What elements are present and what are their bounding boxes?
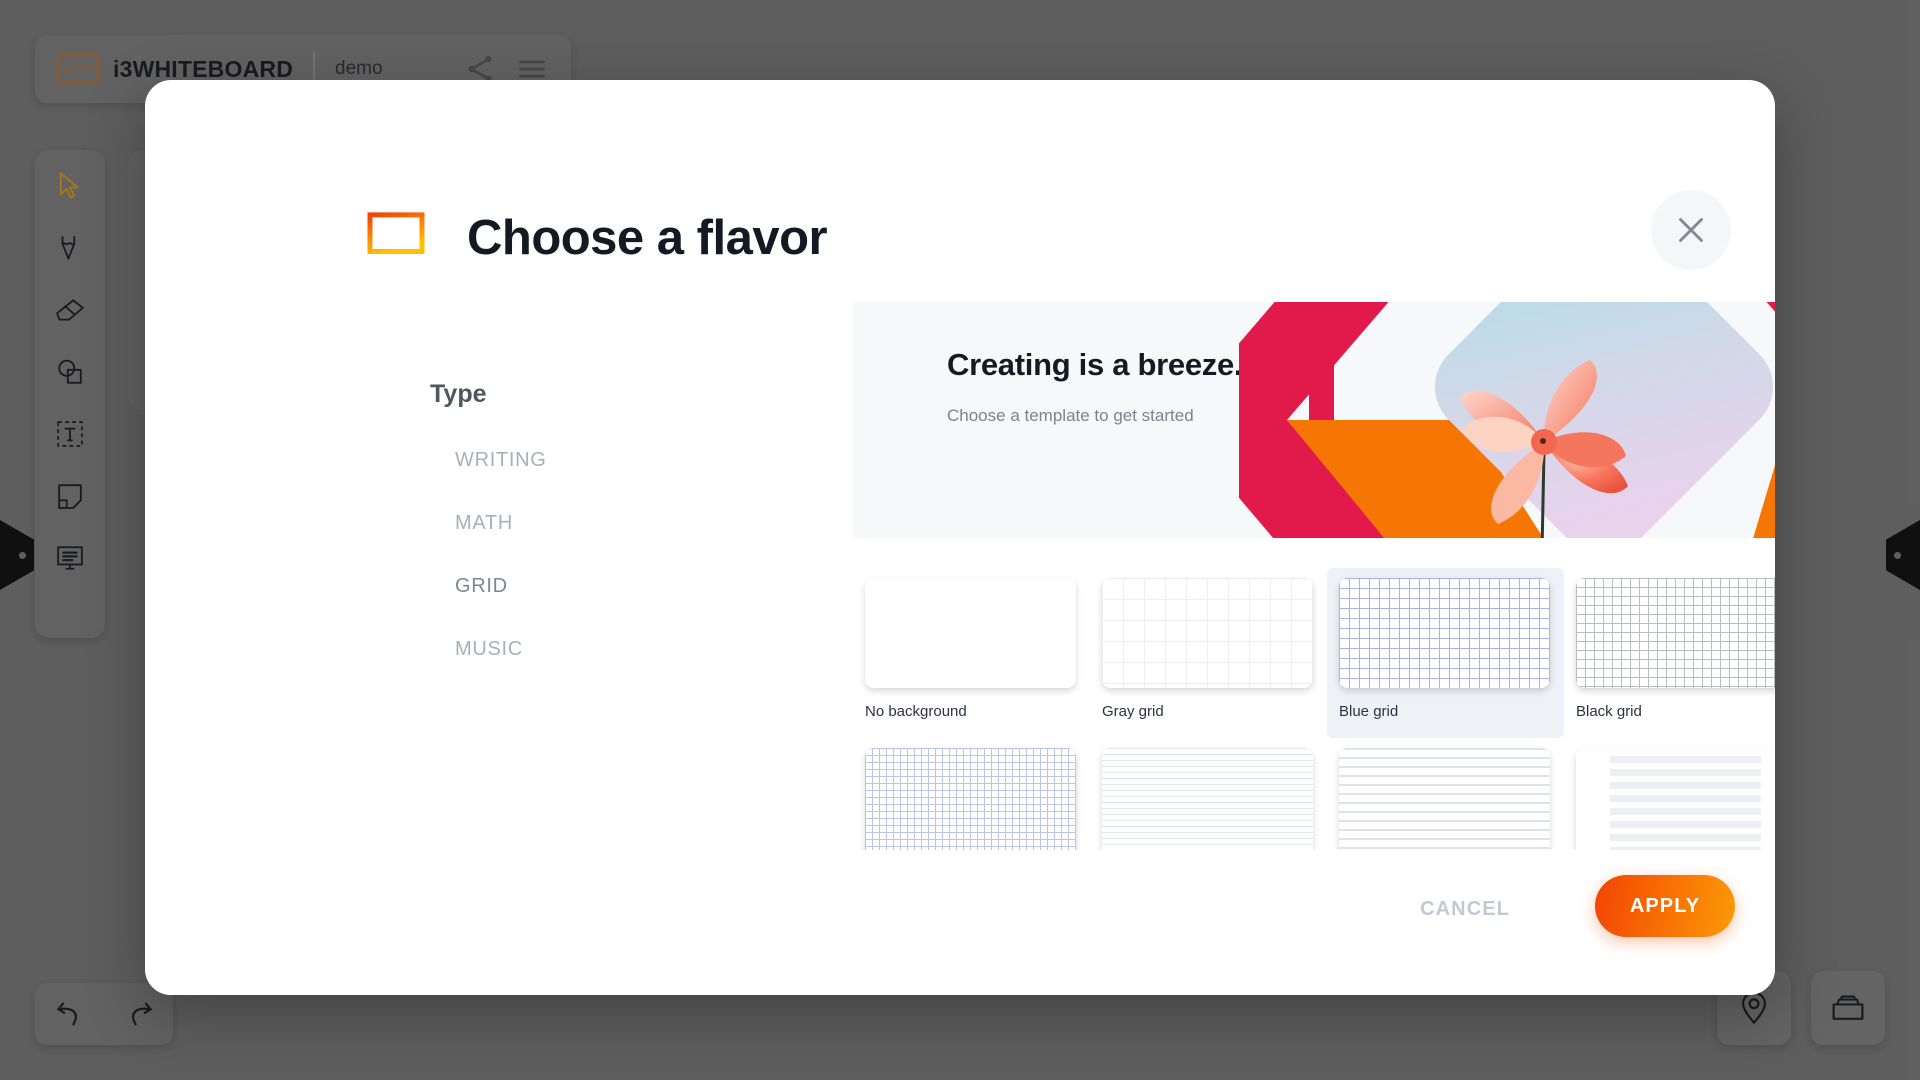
template-label: Blue grid <box>1339 703 1552 720</box>
choose-flavor-dialog: Choose a flavor Type WRITING MATH GRID M… <box>145 80 1775 995</box>
template-thumbnail <box>1339 578 1550 688</box>
promo-banner-title: Creating is a breeze. <box>947 346 1277 384</box>
cancel-button[interactable]: CANCEL <box>1420 898 1510 921</box>
promo-banner-subtitle: Choose a template to get started <box>947 404 1277 429</box>
close-icon[interactable] <box>1651 190 1731 270</box>
promo-banner-text: Creating is a breeze. Choose a template … <box>947 346 1277 428</box>
template-browser[interactable]: Creating is a breeze. Choose a template … <box>853 302 1775 942</box>
dialog-header: Choose a flavor <box>145 210 827 266</box>
template-thumbnail <box>1102 748 1313 858</box>
type-item-writing[interactable]: WRITING <box>430 449 720 472</box>
template-thumbnail <box>865 748 1076 858</box>
screen: i3WHITEBOARD demo <box>0 0 1920 1080</box>
template-card-gray-grid[interactable]: Gray grid <box>1090 568 1327 738</box>
template-thumbnail <box>1102 578 1313 688</box>
template-card-black-grid[interactable]: Black grid <box>1564 568 1775 738</box>
presentation-screen-icon <box>367 212 425 264</box>
template-thumbnail <box>865 578 1076 688</box>
template-thumbnail <box>1339 748 1550 858</box>
type-heading: Type <box>430 380 720 409</box>
template-thumbnail <box>1576 578 1775 688</box>
template-label: Black grid <box>1576 703 1775 720</box>
apply-button[interactable]: APPLY <box>1595 875 1735 937</box>
type-item-grid[interactable]: GRID <box>430 575 720 598</box>
template-thumbnail <box>1576 748 1775 858</box>
type-item-music[interactable]: MUSIC <box>430 638 720 661</box>
template-label: Gray grid <box>1102 703 1315 720</box>
type-list: WRITING MATH GRID MUSIC <box>430 449 720 661</box>
type-item-math[interactable]: MATH <box>430 512 720 535</box>
page-title: Choose a flavor <box>467 210 827 266</box>
promo-banner: Creating is a breeze. Choose a template … <box>853 302 1775 538</box>
template-label: No background <box>865 703 1078 720</box>
pinwheel-photo <box>1239 302 1775 538</box>
template-card-blue-grid[interactable]: Blue grid <box>1327 568 1564 738</box>
dialog-footer: CANCEL APPLY <box>145 850 1775 995</box>
template-card-no-background[interactable]: No background <box>853 568 1090 738</box>
